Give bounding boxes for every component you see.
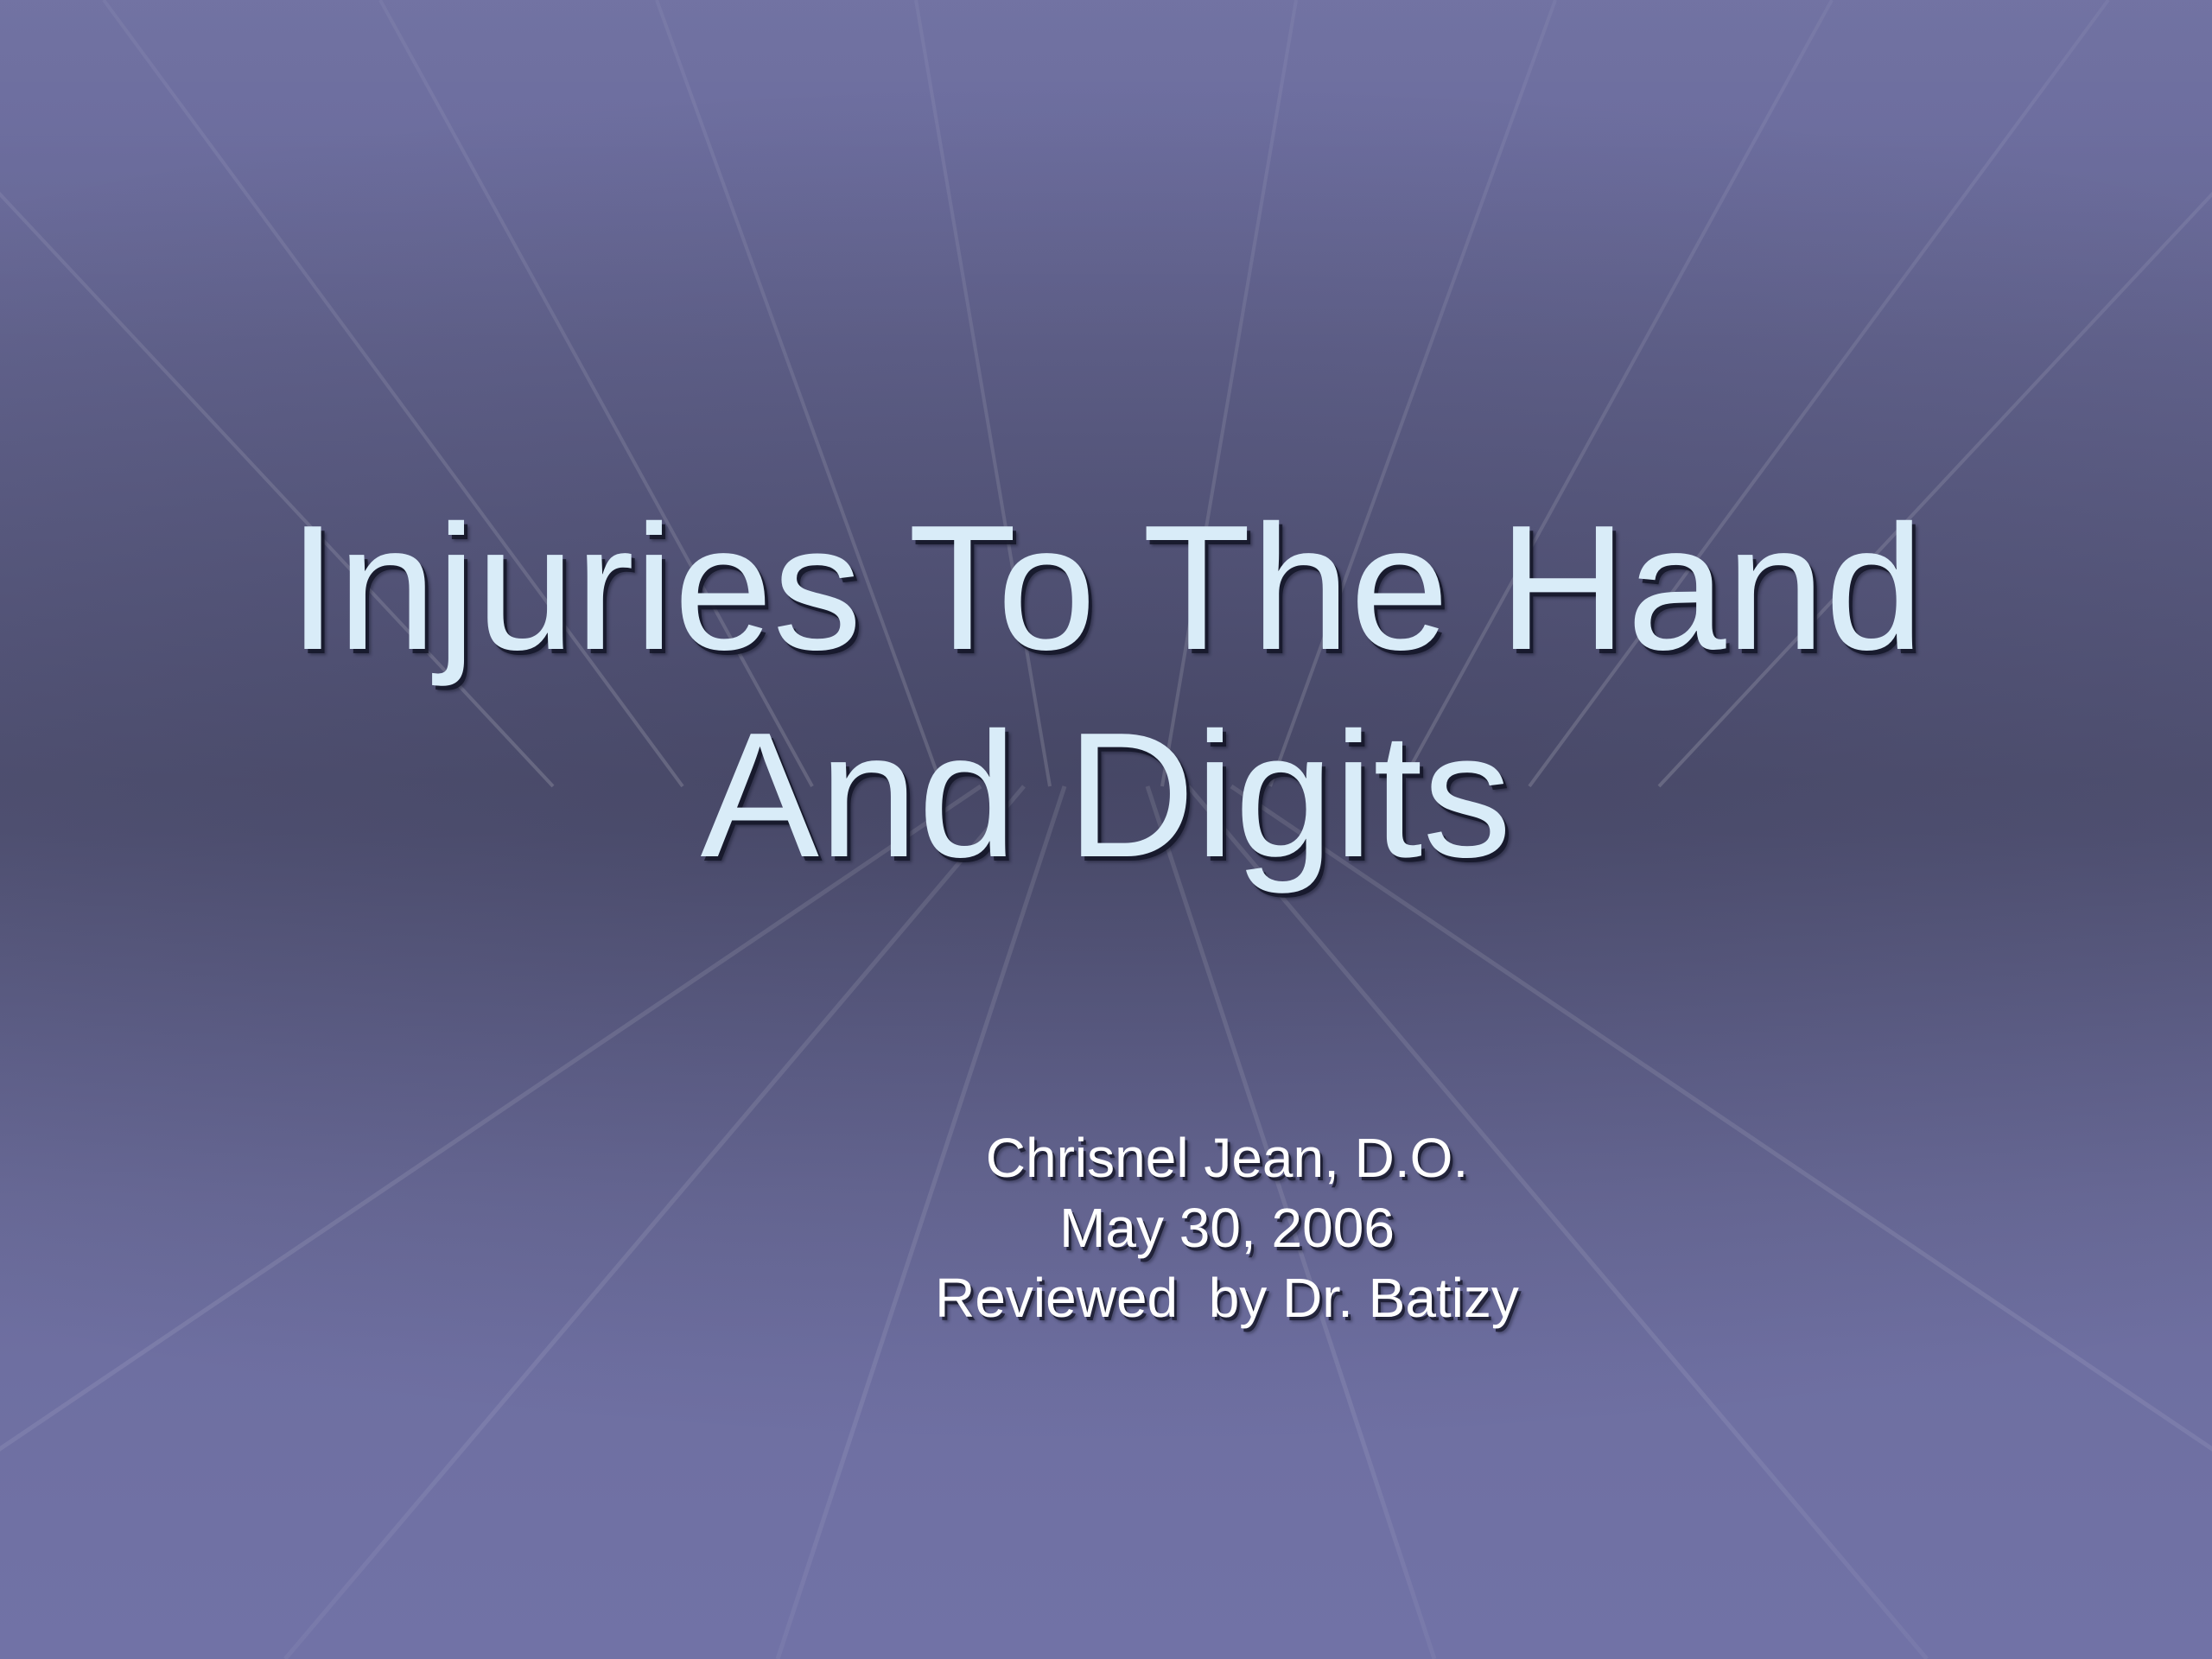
title-line-1: Injuries To The Hand <box>0 484 2212 691</box>
slide-subtitle: Chrisnel Jean, D.O. May 30, 2006 Reviewe… <box>0 1123 2212 1333</box>
presentation-slide: Injuries To The Hand And Digits Chrisnel… <box>0 0 2212 1659</box>
subtitle-date: May 30, 2006 <box>242 1193 2212 1263</box>
slide-title: Injuries To The Hand And Digits <box>0 484 2212 899</box>
title-line-2: And Digits <box>0 691 2212 899</box>
subtitle-author: Chrisnel Jean, D.O. <box>242 1123 2212 1193</box>
subtitle-reviewer: Reviewed by Dr. Batizy <box>242 1263 2212 1333</box>
